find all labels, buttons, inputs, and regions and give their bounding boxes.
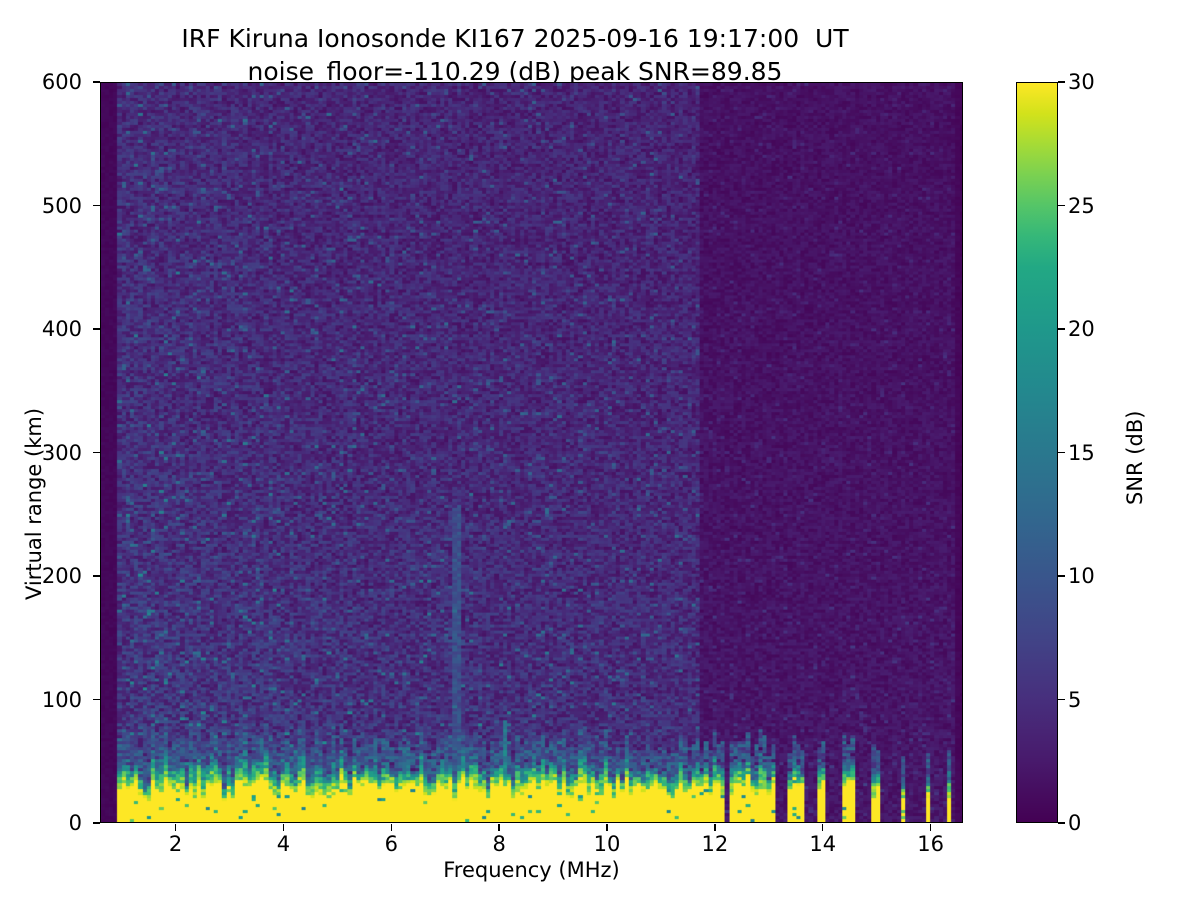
y-tick-mark — [93, 328, 100, 329]
y-tick-mark — [93, 81, 100, 82]
x-tick-mark — [714, 824, 715, 831]
y-tick-label: 100 — [22, 688, 82, 712]
ionogram-plot-area[interactable] — [100, 82, 963, 823]
y-tick-label: 500 — [22, 194, 82, 218]
x-tick-mark — [822, 824, 823, 831]
x-tick-label: 2 — [146, 832, 206, 856]
x-axis-label: Frequency (MHz) — [100, 858, 963, 882]
title-line-1: IRF Kiruna Ionosonde KI167 2025-09-16 19… — [0, 22, 1030, 55]
x-tick-mark — [606, 824, 607, 831]
colorbar-tick-label: 30 — [1068, 70, 1095, 94]
colorbar-tick-mark — [1058, 822, 1065, 823]
y-tick-mark — [93, 699, 100, 700]
colorbar-tick-label: 10 — [1068, 564, 1095, 588]
colorbar-tick-mark — [1058, 575, 1065, 576]
colorbar-tick-label: 20 — [1068, 317, 1095, 341]
colorbar-tick-mark — [1058, 328, 1065, 329]
y-tick-label: 0 — [22, 811, 82, 835]
x-tick-label: 12 — [685, 832, 745, 856]
x-tick-mark — [175, 824, 176, 831]
x-tick-mark — [391, 824, 392, 831]
x-tick-label: 6 — [361, 832, 421, 856]
ionogram-figure: IRF Kiruna Ionosonde KI167 2025-09-16 19… — [0, 0, 1200, 900]
colorbar-tick-mark — [1058, 205, 1065, 206]
x-tick-mark — [283, 824, 284, 831]
x-tick-label: 4 — [253, 832, 313, 856]
colorbar-tick-label: 15 — [1068, 441, 1095, 465]
colorbar-label: SNR (dB) — [1123, 411, 1147, 505]
y-tick-label: 400 — [22, 317, 82, 341]
figure-title: IRF Kiruna Ionosonde KI167 2025-09-16 19… — [0, 22, 1030, 88]
colorbar-tick-label: 25 — [1068, 194, 1095, 218]
colorbar-tick-mark — [1058, 81, 1065, 82]
x-tick-mark — [930, 824, 931, 831]
colorbar-tick-mark — [1058, 452, 1065, 453]
x-tick-label: 8 — [469, 832, 529, 856]
y-tick-mark — [93, 575, 100, 576]
x-tick-label: 14 — [793, 832, 853, 856]
y-tick-mark — [93, 205, 100, 206]
ionogram-heatmap-canvas — [101, 83, 962, 822]
y-tick-label: 600 — [22, 70, 82, 94]
colorbar — [1016, 82, 1058, 823]
colorbar-tick-mark — [1058, 699, 1065, 700]
y-tick-mark — [93, 452, 100, 453]
y-axis-label: Virtual range (km) — [22, 408, 46, 600]
colorbar-tick-label: 0 — [1068, 811, 1081, 835]
x-tick-label: 10 — [577, 832, 637, 856]
y-tick-mark — [93, 822, 100, 823]
x-tick-label: 16 — [901, 832, 961, 856]
colorbar-tick-label: 5 — [1068, 688, 1081, 712]
x-tick-mark — [498, 824, 499, 831]
